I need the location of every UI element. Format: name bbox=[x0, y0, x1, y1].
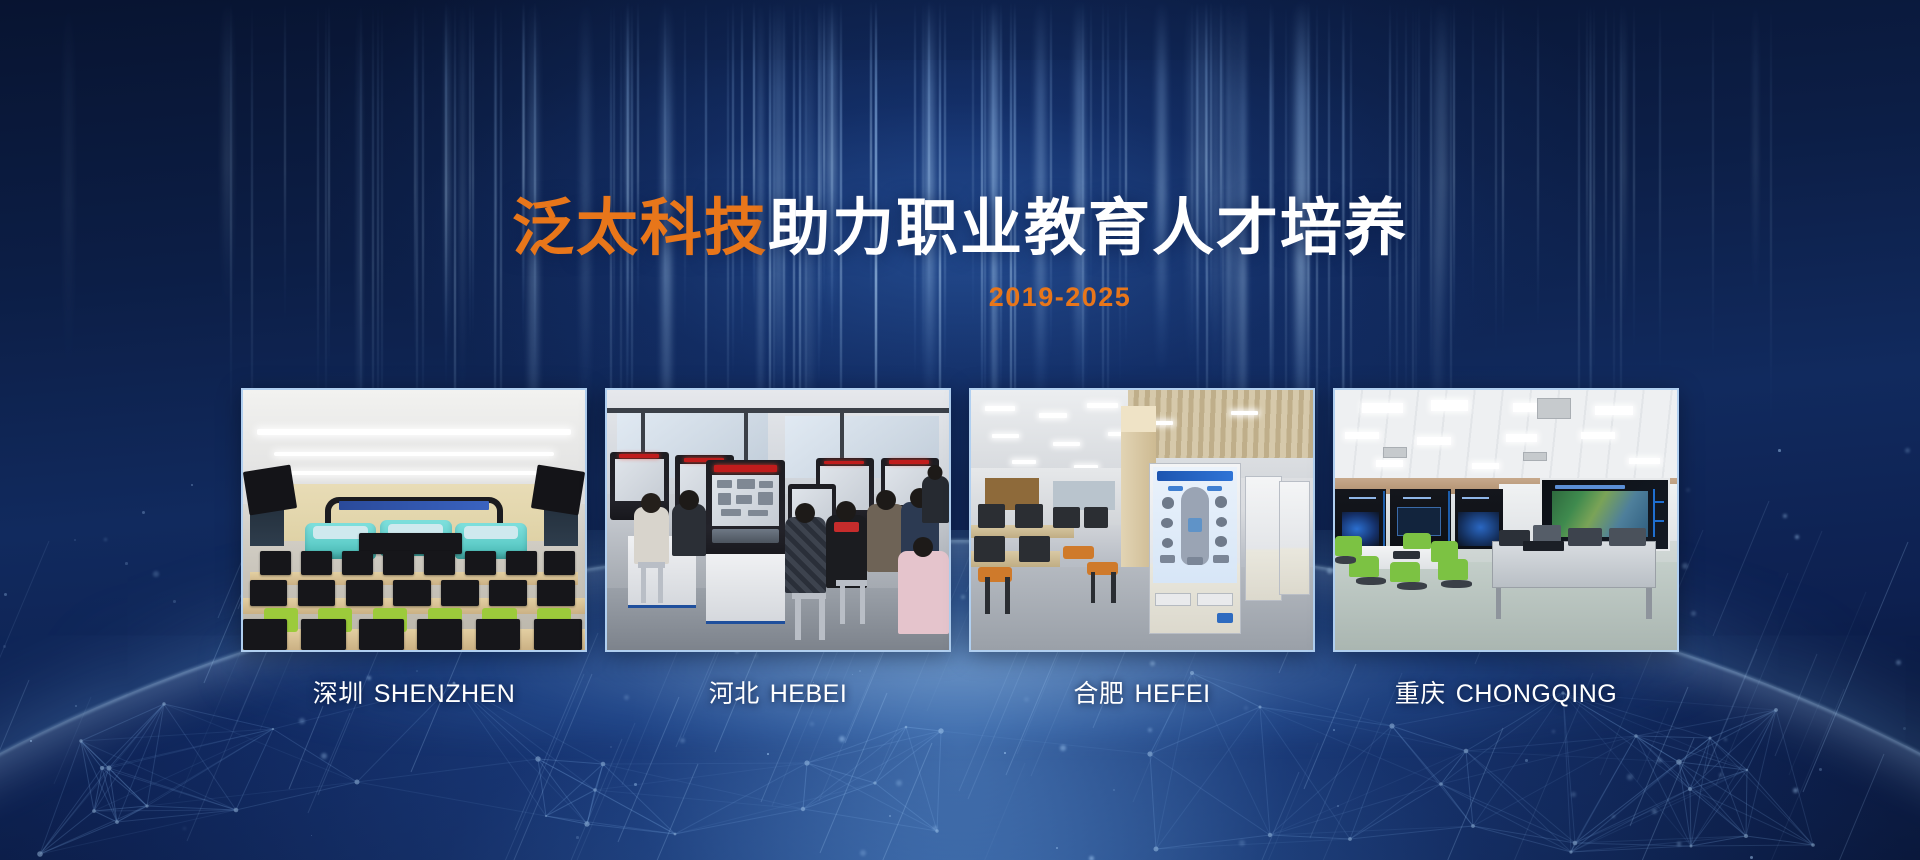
gallery-caption-hefei: 合肥HEFEI bbox=[969, 674, 1315, 710]
gallery-caption-chongqing: 重庆CHONGQING bbox=[1333, 674, 1679, 710]
photo-frame-hefei[interactable] bbox=[969, 388, 1315, 652]
caption-en-shenzhen: SHENZHEN bbox=[374, 680, 516, 708]
caption-en-hefei: HEFEI bbox=[1134, 680, 1210, 708]
page-title-rest: 助力职业教育人才培养 bbox=[768, 194, 1408, 263]
page-title: 泛太科技助力职业教育人才培养 bbox=[0, 198, 1920, 260]
page-subtitle-years: 2019-2025 bbox=[0, 282, 1920, 313]
photo-hefei-smart-vehicle-control-system-lab bbox=[971, 390, 1313, 650]
caption-cn-chongqing: 重庆 bbox=[1395, 680, 1446, 708]
caption-cn-shenzhen: 深圳 bbox=[313, 680, 364, 708]
promotional-banner: 泛太科技助力职业教育人才培养 2019-2025 bbox=[0, 0, 1920, 860]
caption-cn-hefei: 合肥 bbox=[1073, 680, 1124, 708]
page-title-highlight: 泛太科技 bbox=[512, 194, 768, 263]
photo-chongqing-intelligent-manufacturing-lab bbox=[1335, 390, 1677, 650]
photo-frame-chongqing[interactable] bbox=[1333, 388, 1679, 652]
heading-block: 泛太科技助力职业教育人才培养 2019-2025 bbox=[0, 0, 1920, 313]
gallery-caption-hebei: 河北HEBEI bbox=[605, 674, 951, 710]
photo-hebei-electrical-training-workstations bbox=[607, 390, 949, 650]
gallery-card-hebei[interactable]: 河北HEBEI bbox=[605, 388, 951, 710]
caption-en-hebei: HEBEI bbox=[770, 680, 848, 708]
gallery-card-hefei[interactable]: 合肥HEFEI bbox=[969, 388, 1315, 710]
photo-frame-shenzhen[interactable] bbox=[241, 388, 587, 652]
gallery-card-shenzhen[interactable]: 深圳SHENZHEN bbox=[241, 388, 587, 710]
photo-shenzhen-harmonyos-smart-cockpit-classroom bbox=[243, 390, 585, 650]
gallery-card-chongqing[interactable]: 重庆CHONGQING bbox=[1333, 388, 1679, 710]
photo-gallery: 深圳SHENZHEN bbox=[241, 388, 1679, 710]
caption-en-chongqing: CHONGQING bbox=[1456, 680, 1617, 708]
photo-frame-hebei[interactable] bbox=[605, 388, 951, 652]
caption-cn-hebei: 河北 bbox=[709, 680, 760, 708]
gallery-caption-shenzhen: 深圳SHENZHEN bbox=[241, 674, 587, 710]
